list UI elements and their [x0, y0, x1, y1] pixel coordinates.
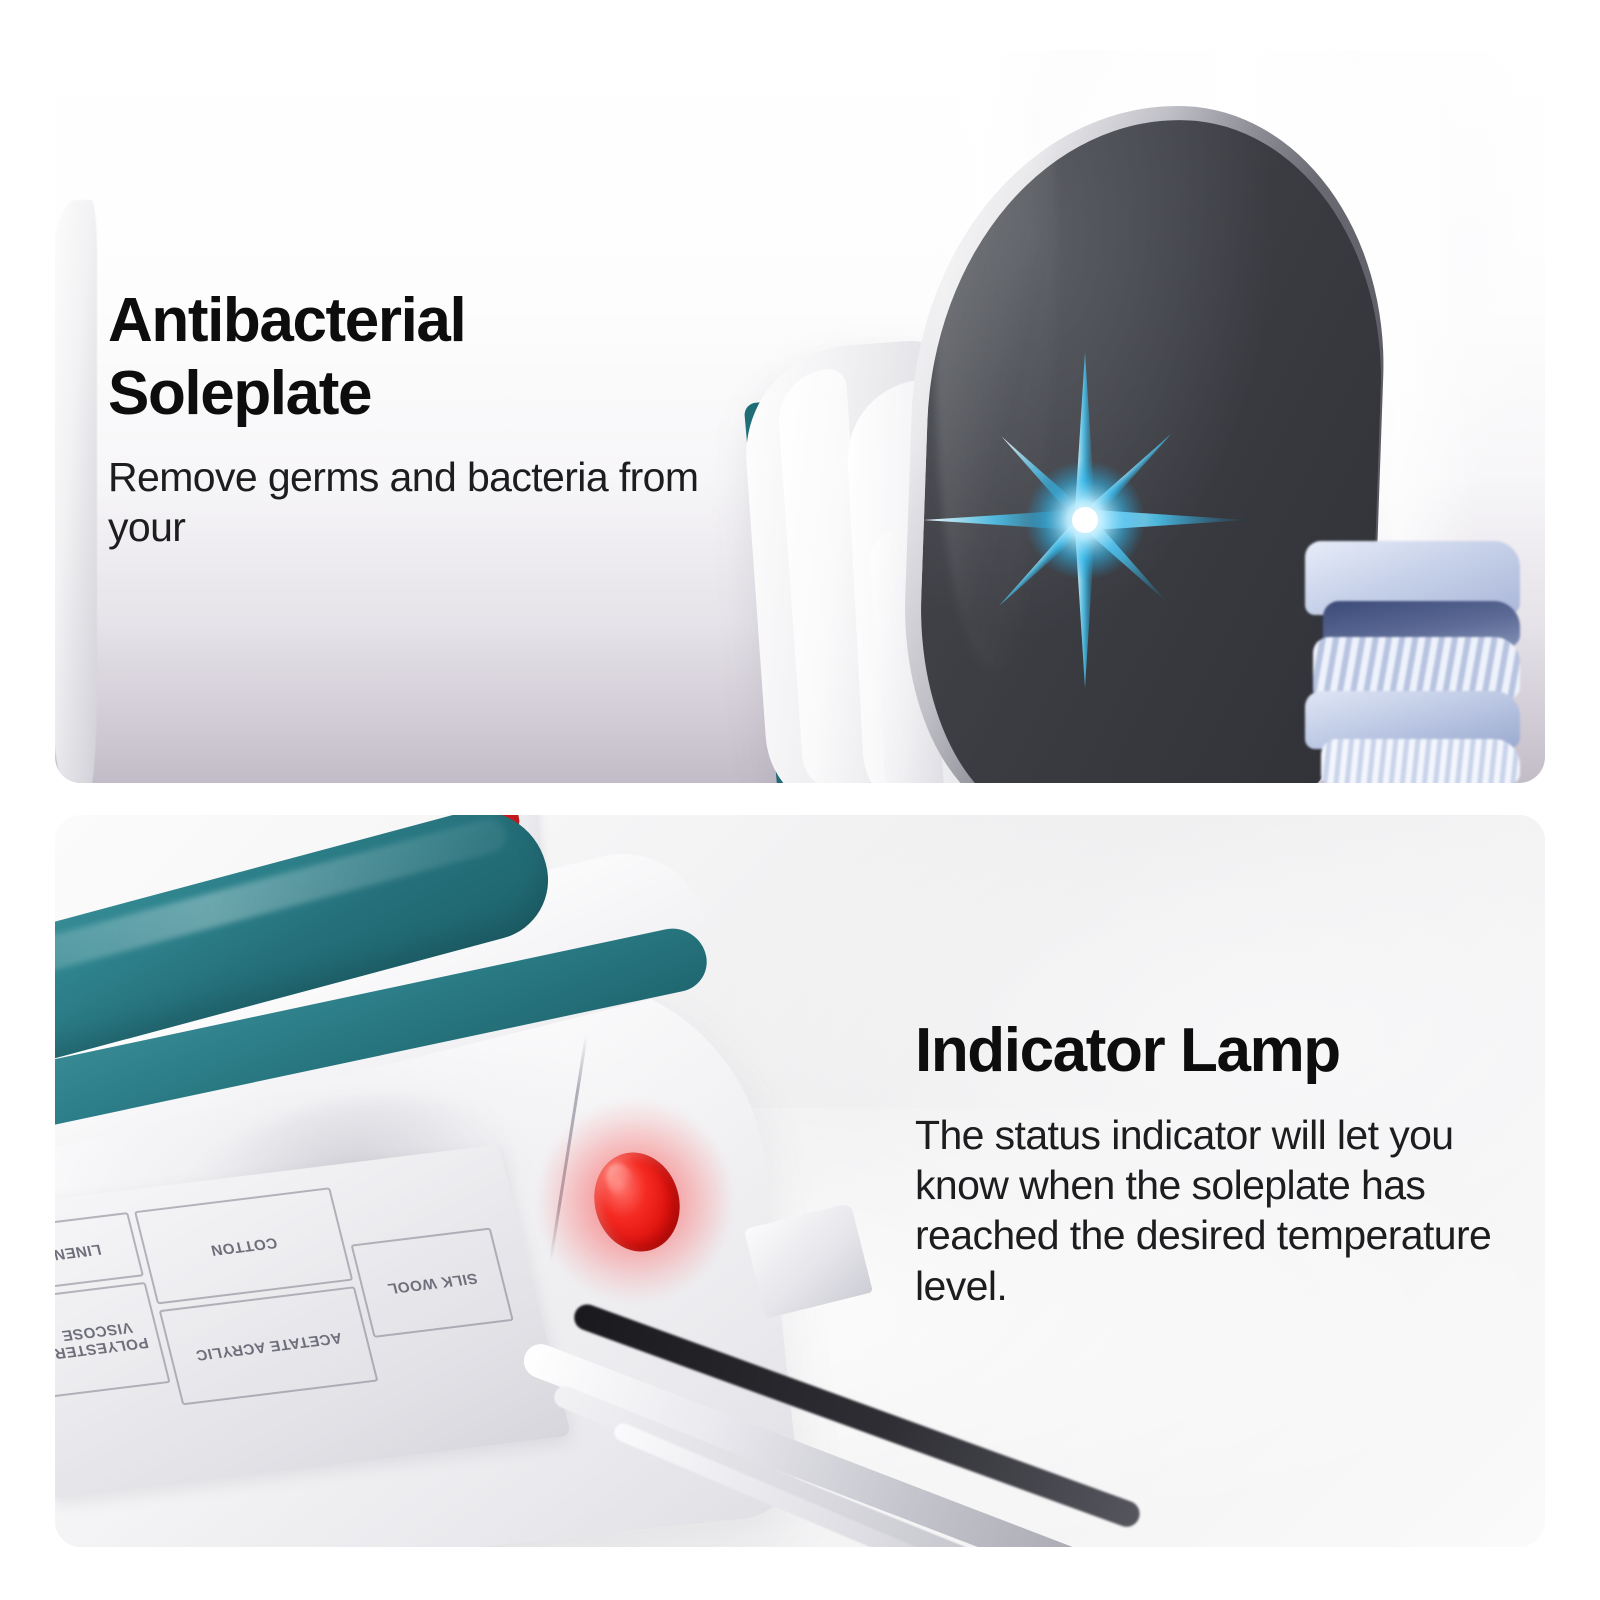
iron-body-shading	[172, 1072, 538, 1308]
soleplate-rim	[898, 97, 1393, 783]
feature-description: Remove germs and bacteria from your	[108, 452, 728, 553]
iron-shell-highlight	[775, 368, 874, 783]
iron-upper-shell	[55, 836, 721, 1180]
folded-cloth	[1321, 739, 1520, 783]
folded-cloth	[1313, 637, 1520, 699]
feature-text-indicator-lamp: Indicator Lamp The status indicator will…	[915, 1015, 1515, 1311]
soleplate-face	[914, 112, 1390, 783]
iron-thumb-rest	[868, 528, 946, 783]
feature-title: Indicator Lamp	[915, 1015, 1515, 1088]
feature-description: The status indicator will let you know w…	[915, 1110, 1515, 1312]
window-light-glow	[955, 50, 1515, 610]
folded-cloth	[1305, 541, 1520, 615]
soleplate-white-edge	[55, 200, 97, 783]
feature-text-antibacterial: Antibacterial Soleplate Remove germs and…	[108, 285, 728, 553]
infographic-page: Antibacterial Soleplate Remove germs and…	[0, 0, 1600, 1600]
soleplate-specular-highlight	[923, 108, 1062, 672]
sparkle-star-icon	[915, 350, 1255, 690]
curtain-band	[1345, 50, 1475, 783]
iron-body-seam	[549, 1034, 588, 1262]
water-tank-knob	[462, 815, 545, 904]
feature-panel-antibacterial-soleplate: Antibacterial Soleplate Remove germs and…	[55, 50, 1545, 783]
iron-handle	[55, 815, 562, 1083]
feature-title: Antibacterial Soleplate	[108, 285, 728, 430]
feature-panel-indicator-lamp: Indicator Lamp The status indicator will…	[55, 815, 1545, 1547]
curtain-band	[1165, 50, 1335, 783]
knob-base	[450, 878, 570, 916]
iron-shell	[739, 338, 981, 783]
iron-handle-lobe	[844, 377, 997, 783]
folded-cloth	[1305, 691, 1520, 749]
iron-teal-trim	[744, 402, 803, 783]
iron-soleplate	[898, 97, 1393, 783]
iron-teal-lower-trim	[55, 922, 712, 1163]
folded-laundry-stack	[1305, 533, 1520, 783]
iron-body	[55, 956, 802, 1547]
curtain-band	[935, 50, 1045, 783]
knob-red-accent	[483, 815, 520, 834]
folded-cloth	[1323, 601, 1520, 647]
handle-gloss-highlight	[55, 815, 510, 993]
